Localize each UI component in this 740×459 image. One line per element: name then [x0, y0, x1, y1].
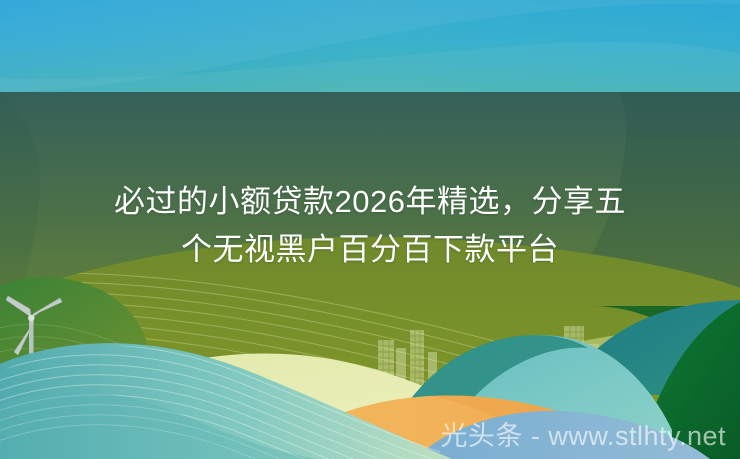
banner-image: 必过的小额贷款2026年精选，分享五 个无视黑户百分百下款平台 光头条 - ww… [0, 0, 740, 459]
background-artwork [0, 0, 740, 459]
